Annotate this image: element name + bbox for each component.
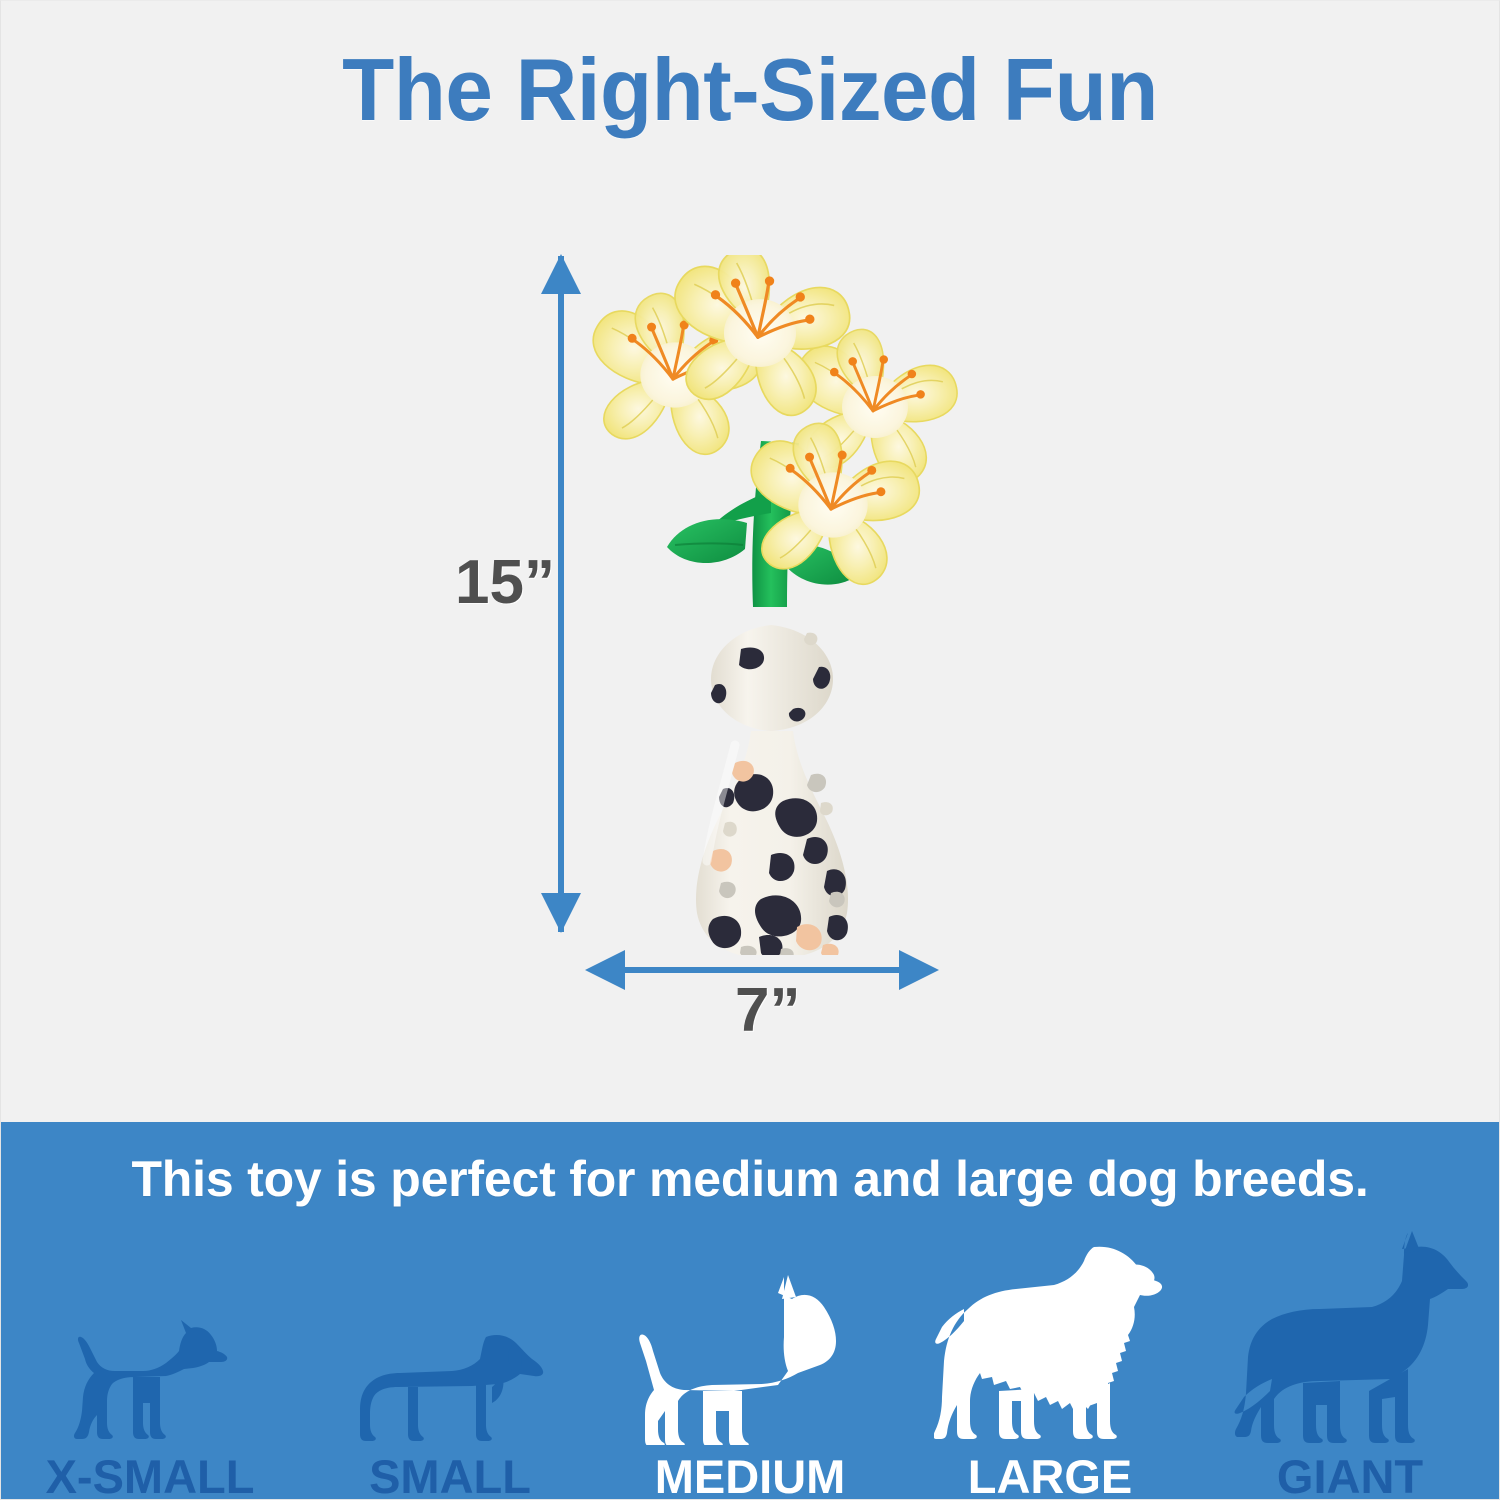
size-option-small[interactable]: SMALL: [300, 1222, 600, 1500]
great-dane-silhouette-icon: [1232, 1229, 1468, 1445]
golden-retriever-silhouette-icon: [934, 1235, 1166, 1445]
dachshund-silhouette-icon: [352, 1317, 548, 1445]
breed-size-banner: This toy is perfect for medium and large…: [0, 1122, 1500, 1500]
banner-headline: This toy is perfect for medium and large…: [0, 1154, 1500, 1204]
size-label-large: LARGE: [968, 1453, 1133, 1500]
product-image: [575, 255, 975, 955]
page-title: The Right-Sized Fun: [23, 46, 1478, 134]
height-measurement-label: 15”: [455, 552, 555, 614]
size-label-small: SMALL: [369, 1453, 531, 1500]
size-label-giant: GIANT: [1277, 1453, 1423, 1500]
width-guide-line: [592, 967, 932, 973]
size-label-medium: MEDIUM: [655, 1453, 846, 1500]
chihuahua-silhouette-icon: [65, 1315, 235, 1445]
breed-size-scale: X-SMALL SMALL: [0, 1222, 1500, 1500]
infographic-page: The Right-Sized Fun: [0, 0, 1500, 1500]
height-arrow-down-icon: [541, 893, 581, 933]
bull-terrier-silhouette-icon: [638, 1269, 862, 1445]
width-measurement-label: 7”: [735, 980, 800, 1042]
size-option-x-small[interactable]: X-SMALL: [0, 1222, 300, 1500]
width-arrow-right-icon: [899, 950, 939, 990]
product-display-panel: The Right-Sized Fun: [0, 0, 1500, 1122]
size-option-giant[interactable]: GIANT: [1200, 1222, 1500, 1500]
size-label-x-small: X-SMALL: [46, 1453, 255, 1500]
size-option-medium[interactable]: MEDIUM: [600, 1222, 900, 1500]
size-option-large[interactable]: LARGE: [900, 1222, 1200, 1500]
height-guide-line: [558, 256, 564, 932]
